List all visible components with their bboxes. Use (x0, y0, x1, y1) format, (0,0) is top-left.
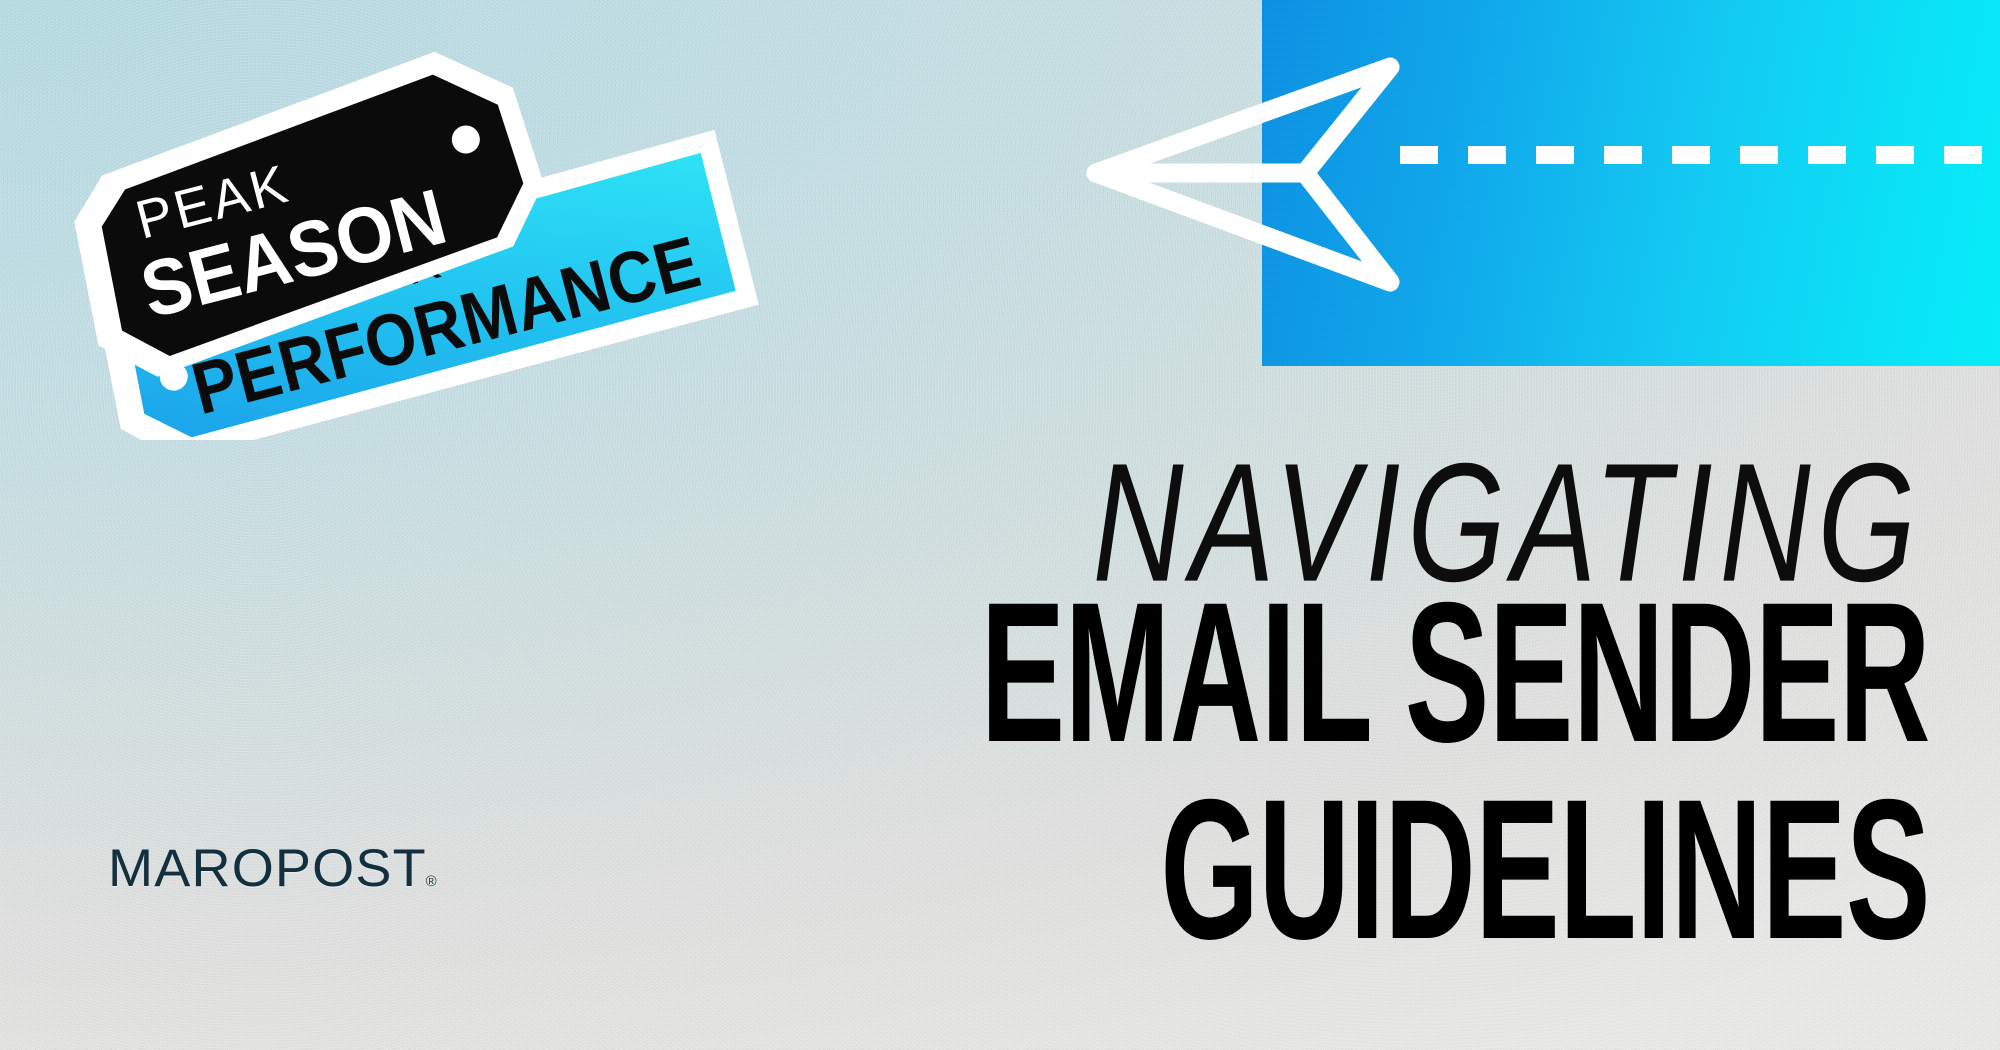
headline-line-1: EMAIL SENDER (299, 582, 1930, 762)
peak-season-badge: PEAK PERFORMANCE PEAK SEASON (40, 40, 780, 440)
maropost-logo: MAROPOST ® (108, 838, 437, 899)
paper-plane-icon (1060, 20, 1480, 320)
banner-canvas: PEAK PERFORMANCE PEAK SEASON NAVIGATING … (0, 0, 2000, 1050)
registered-trademark-symbol: ® (426, 873, 437, 890)
maropost-wordmark: MAROPOST (108, 838, 427, 899)
dashed-trail-line (1400, 140, 2000, 170)
headline-line-2: GUIDELINES (299, 779, 1930, 959)
